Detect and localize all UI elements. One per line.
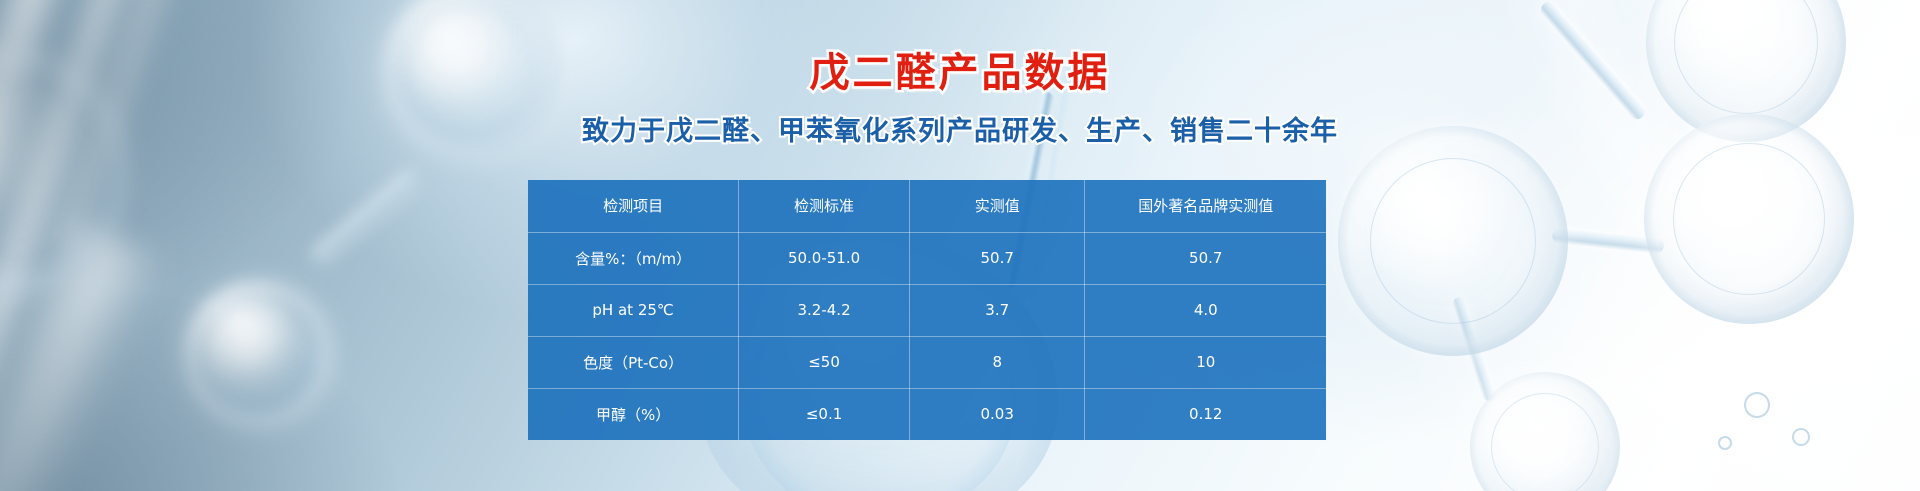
cell-item: pH at 25℃ [528, 284, 739, 336]
cell-foreign: 0.12 [1085, 388, 1326, 440]
cell-item: 含量%：（m/m） [528, 232, 739, 284]
molecule-mini-icon [1792, 428, 1810, 446]
column-header-standard: 检测标准 [739, 180, 910, 232]
molecule-bond-icon [310, 169, 421, 266]
cell-measured: 50.7 [909, 232, 1085, 284]
cell-foreign: 10 [1085, 336, 1326, 388]
cell-standard: ≤50 [739, 336, 910, 388]
product-spec-table: 检测项目 检测标准 实测值 国外著名品牌实测值 含量%：（m/m） 50.0-5… [528, 180, 1326, 440]
cell-measured: 8 [909, 336, 1085, 388]
cell-standard: 3.2-4.2 [739, 284, 910, 336]
page-subtitle: 致力于戊二醛、甲苯氧化系列产品研发、生产、销售二十余年 [0, 109, 1920, 148]
page-title: 戊二醛产品数据 [0, 52, 1920, 95]
molecule-atom-icon [184, 280, 332, 428]
molecule-mini-icon [1718, 436, 1732, 450]
cell-item: 甲醇（%） [528, 388, 739, 440]
column-header-measured: 实测值 [909, 180, 1085, 232]
cell-standard: 50.0-51.0 [739, 232, 910, 284]
product-data-banner: 戊二醛产品数据 致力于戊二醛、甲苯氧化系列产品研发、生产、销售二十余年 检测项目… [0, 0, 1920, 491]
table-row: 含量%：（m/m） 50.0-51.0 50.7 50.7 [528, 232, 1326, 284]
cell-standard: ≤0.1 [739, 388, 910, 440]
spec-table-container: 检测项目 检测标准 实测值 国外著名品牌实测值 含量%：（m/m） 50.0-5… [528, 180, 1326, 440]
table-row: 色度（Pt-Co） ≤50 8 10 [528, 336, 1326, 388]
column-header-item: 检测项目 [528, 180, 739, 232]
cell-measured: 0.03 [909, 388, 1085, 440]
cell-foreign: 50.7 [1085, 232, 1326, 284]
molecule-atom-icon [1338, 126, 1568, 356]
table-row: 甲醇（%） ≤0.1 0.03 0.12 [528, 388, 1326, 440]
molecule-mini-icon [1744, 392, 1770, 418]
column-header-foreign: 国外著名品牌实测值 [1085, 180, 1326, 232]
cell-item: 色度（Pt-Co） [528, 336, 739, 388]
table-header-row: 检测项目 检测标准 实测值 国外著名品牌实测值 [528, 180, 1326, 232]
cell-measured: 3.7 [909, 284, 1085, 336]
banner-headings: 戊二醛产品数据 致力于戊二醛、甲苯氧化系列产品研发、生产、销售二十余年 [0, 52, 1920, 148]
cell-foreign: 4.0 [1085, 284, 1326, 336]
table-row: pH at 25℃ 3.2-4.2 3.7 4.0 [528, 284, 1326, 336]
